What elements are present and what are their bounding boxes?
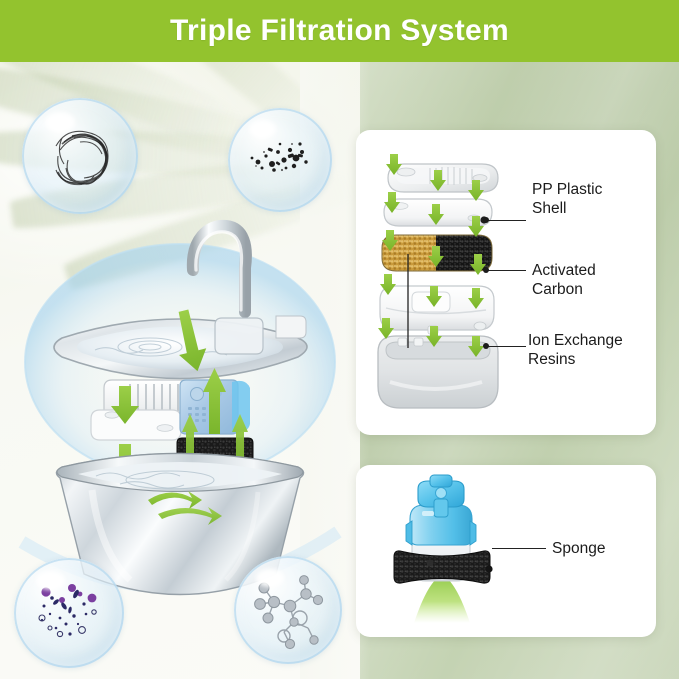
leader-dot-pp-plastic-shell — [483, 217, 489, 223]
bubble-dirt-debris — [228, 108, 332, 212]
page-title: Triple Filtration System — [170, 14, 509, 48]
label-pp-plastic-shell: PP Plastic Shell — [532, 180, 672, 218]
layer-pp-shell-top — [388, 164, 498, 192]
leader-line-activated-carbon — [486, 270, 526, 271]
molecule-icon — [234, 556, 342, 664]
leader-dot-ion-exchange-resins — [483, 343, 489, 349]
header-banner: Triple Filtration System — [0, 0, 679, 62]
bubble-chemical-molecules — [234, 556, 342, 664]
bubble-bacteria — [14, 558, 124, 668]
label-ion-exchange-resins: Ion Exchange Resins — [528, 331, 678, 369]
bubble-pet-hair — [22, 98, 138, 214]
bacteria-icon — [14, 558, 124, 668]
label-sponge: Sponge — [552, 539, 662, 558]
infographic-canvas: Triple Filtration System — [0, 0, 679, 679]
pet-hair-icon — [22, 98, 138, 214]
label-activated-carbon: Activated Carbon — [532, 261, 672, 299]
dirt-debris-icon — [228, 108, 332, 212]
leader-line-ion-exchange-resins — [486, 346, 526, 347]
leader-line-sponge — [492, 548, 546, 549]
leader-line-pp-plastic-shell — [486, 220, 526, 221]
leader-dot-activated-carbon — [483, 267, 489, 273]
